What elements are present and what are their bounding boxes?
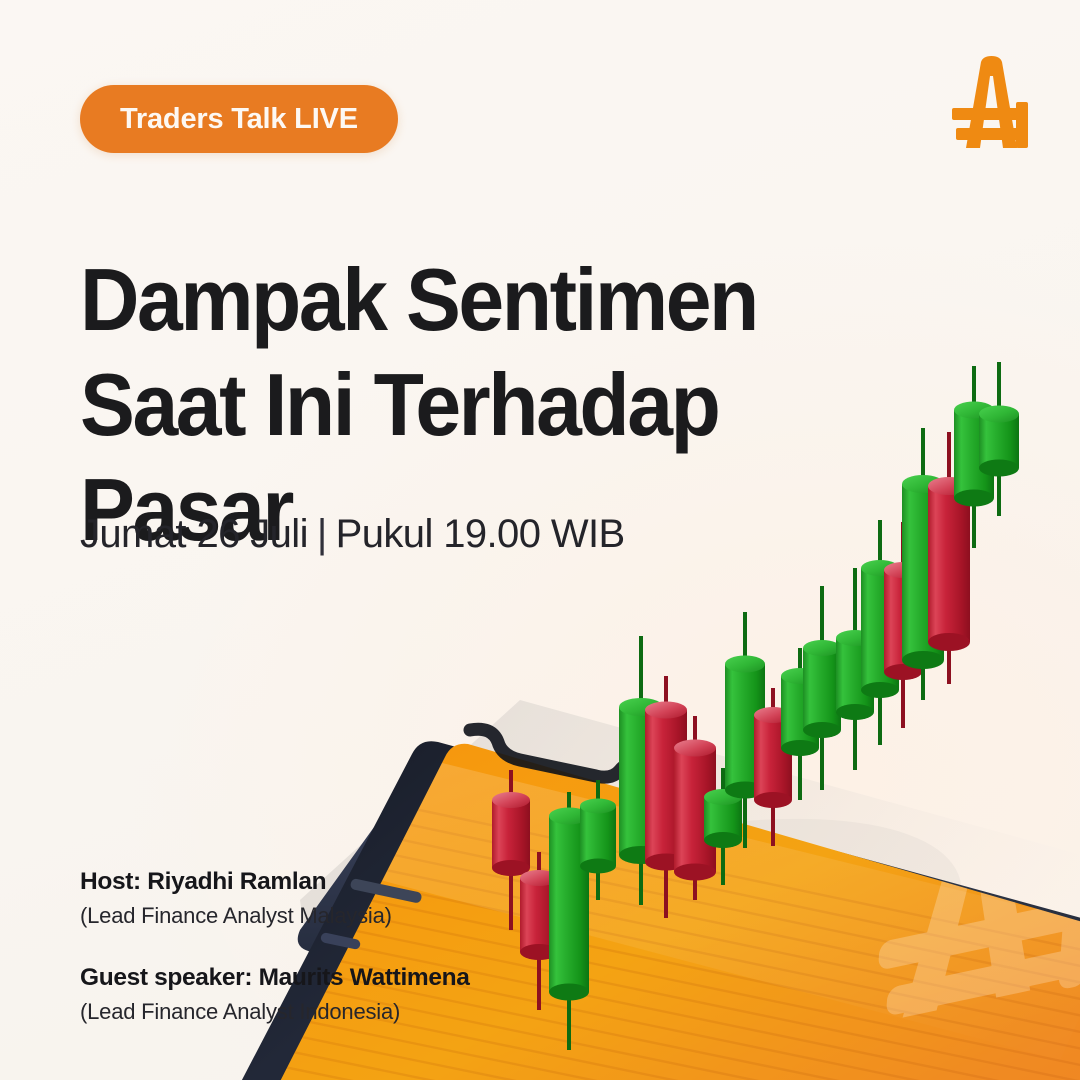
speaker-host-name: Host: Riyadhi Ramlan — [80, 866, 470, 898]
promo-poster: Traders Talk LIVE Dampak Sentimen Saat I… — [0, 0, 1080, 1080]
schedule-time: Pukul 19.00 WIB — [336, 512, 625, 556]
speaker-host-role: (Lead Finance Analyst Malaysia) — [80, 900, 470, 932]
alpari-a-logo-icon — [930, 52, 1042, 160]
speaker-host: Host: Riyadhi Ramlan (Lead Finance Analy… — [80, 866, 470, 932]
headline-line-1: Dampak Sentimen — [80, 247, 753, 352]
speaker-guest: Guest speaker: Maurits Wattimena (Lead F… — [80, 962, 470, 1028]
speaker-guest-name: Guest speaker: Maurits Wattimena — [80, 962, 470, 994]
schedule-date: Jumat 26 Juli — [80, 512, 308, 556]
headline-line-2: Saat Ini Terhadap — [80, 352, 753, 457]
schedule-separator: | — [308, 512, 336, 556]
schedule-line: Jumat 26 Juli|Pukul 19.00 WIB — [80, 512, 625, 557]
live-badge-label: Traders Talk LIVE — [120, 103, 358, 136]
speaker-list: Host: Riyadhi Ramlan (Lead Finance Analy… — [80, 866, 470, 1028]
alpari-a-watermark-icon — [874, 783, 1080, 1030]
live-badge[interactable]: Traders Talk LIVE — [80, 85, 398, 153]
speaker-guest-role: (Lead Finance Analyst Indonesia) — [80, 996, 470, 1028]
